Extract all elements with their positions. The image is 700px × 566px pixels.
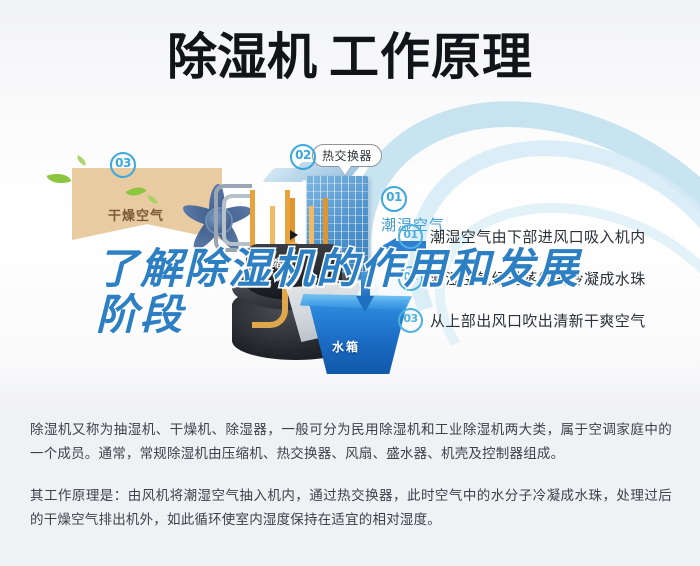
article-body: 除湿机又称为抽湿机、干燥机、除湿器，一般可分为民用除湿机和工业除湿机两大类，属于…: [30, 418, 672, 532]
diagram-badge-01: 01: [381, 186, 407, 212]
page-root: 除湿机工作原理 干燥空气: [0, 0, 700, 566]
flow-arrow-right-icon: [290, 230, 298, 240]
diagram-badge-03: 03: [110, 152, 136, 178]
dry-air-label: 干燥空气: [108, 205, 164, 224]
leaf-icon: [75, 155, 88, 166]
leaf-icon: [47, 169, 72, 188]
article-paragraph-2: 其工作原理是：由风机将潮湿空气抽入机内，通过热交换器，此时空气中的水分子冷凝成水…: [30, 484, 672, 532]
infographic-title-part1: 除湿机: [167, 28, 317, 86]
heat-exchanger-callout: 热交换器: [312, 144, 382, 167]
water-tank-label: 水箱: [332, 338, 360, 355]
diagram-badge-02: 02: [290, 144, 316, 170]
infographic-title: 除湿机工作原理: [0, 26, 700, 88]
dehumidifier-principle-infographic: 除湿机工作原理 干燥空气: [0, 0, 700, 408]
article-paragraph-1: 除湿机又称为抽湿机、干燥机、除湿器，一般可分为民用除湿机和工业除湿机两大类，属于…: [30, 418, 672, 466]
overlay-headline: 了解除湿机的作用和发展阶段: [96, 246, 616, 338]
infographic-title-part2: 工作原理: [329, 28, 533, 86]
